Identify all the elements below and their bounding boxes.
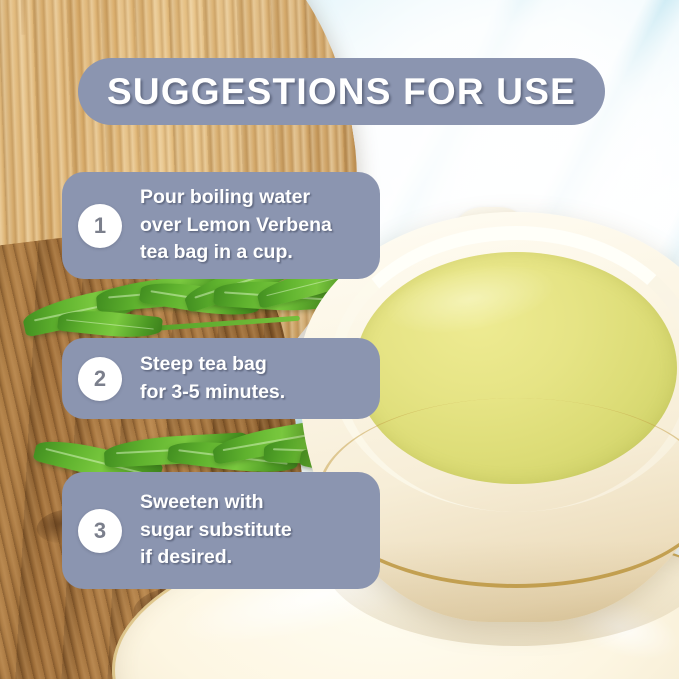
step-text-line: for 3-5 minutes. [140, 379, 285, 407]
step-text-line: tea bag in a cup. [140, 239, 332, 267]
page-title: SUGGESTIONS FOR USE [107, 71, 576, 113]
step-text-line: if desired. [140, 544, 292, 572]
step-text-3: Sweeten with sugar substitute if desired… [140, 489, 292, 572]
step-number-badge: 1 [78, 204, 122, 248]
step-number-badge: 2 [78, 357, 122, 401]
wood-grain-seam [19, 0, 26, 35]
step-text-line: over Lemon Verbena [140, 212, 332, 240]
suggestions-for-use-graphic: SUGGESTIONS FOR USE 1 Pour boiling water… [0, 0, 679, 679]
step-text-line: Steep tea bag [140, 351, 285, 379]
step-text-1: Pour boiling water over Lemon Verbena te… [140, 184, 332, 267]
page-title-banner: SUGGESTIONS FOR USE [78, 58, 605, 125]
step-item-2: 2 Steep tea bag for 3-5 minutes. [62, 338, 380, 419]
step-item-1: 1 Pour boiling water over Lemon Verbena … [62, 172, 380, 279]
step-text-line: Sweeten with [140, 489, 292, 517]
step-number-badge: 3 [78, 509, 122, 553]
step-text-line: Pour boiling water [140, 184, 332, 212]
step-text-2: Steep tea bag for 3-5 minutes. [140, 351, 285, 406]
step-text-line: sugar substitute [140, 517, 292, 545]
step-item-3: 3 Sweeten with sugar substitute if desir… [62, 472, 380, 589]
